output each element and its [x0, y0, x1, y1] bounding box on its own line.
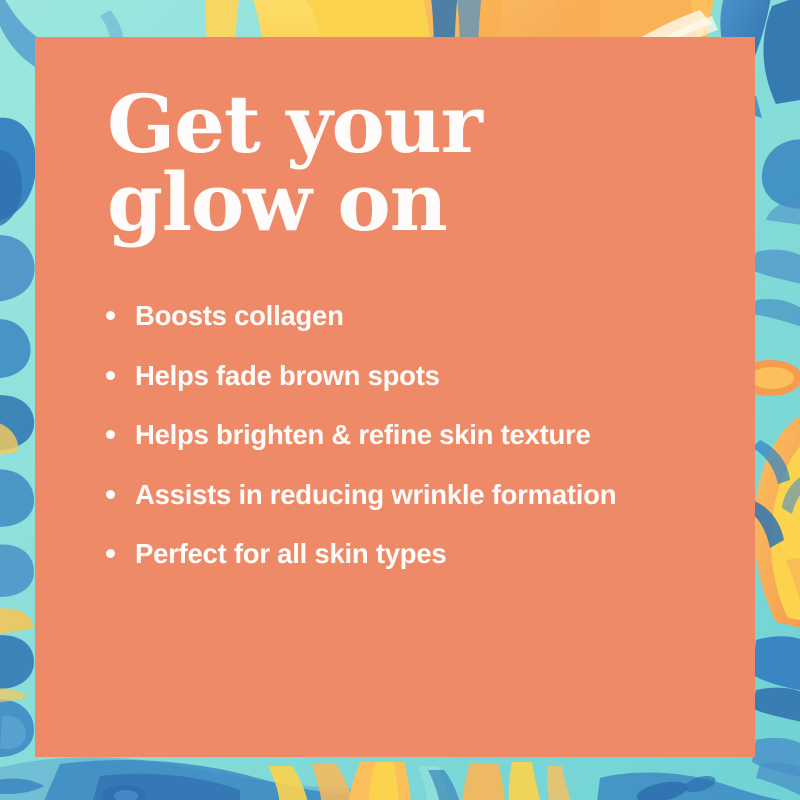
headline-line-2: glow on	[107, 163, 707, 241]
list-item-label: Perfect for all skin types	[135, 537, 718, 571]
list-item: Perfect for all skin types	[98, 537, 718, 571]
list-item: Boosts collagen	[98, 299, 718, 333]
list-item-label: Assists in reducing wrinkle formation	[135, 478, 718, 512]
headline-line-1: Get your	[107, 85, 707, 163]
benefits-list: Boosts collagen Helps fade brown spots H…	[98, 299, 718, 571]
bullet-dot-icon	[106, 549, 115, 558]
list-item: Assists in reducing wrinkle formation	[98, 478, 718, 512]
content-card: Get your glow on Boosts collagen Helps f…	[35, 37, 755, 757]
list-item-label: Helps brighten & refine skin texture	[135, 418, 718, 452]
list-item: Helps brighten & refine skin texture	[98, 418, 718, 452]
page-title: Get your glow on	[107, 85, 707, 242]
list-item: Helps fade brown spots	[98, 359, 718, 393]
bullet-dot-icon	[106, 371, 115, 380]
bullet-dot-icon	[106, 430, 115, 439]
bullet-dot-icon	[106, 490, 115, 499]
bullet-dot-icon	[106, 311, 115, 320]
list-item-label: Helps fade brown spots	[135, 359, 718, 393]
list-item-label: Boosts collagen	[135, 299, 718, 333]
poster: Get your glow on Boosts collagen Helps f…	[0, 0, 800, 800]
